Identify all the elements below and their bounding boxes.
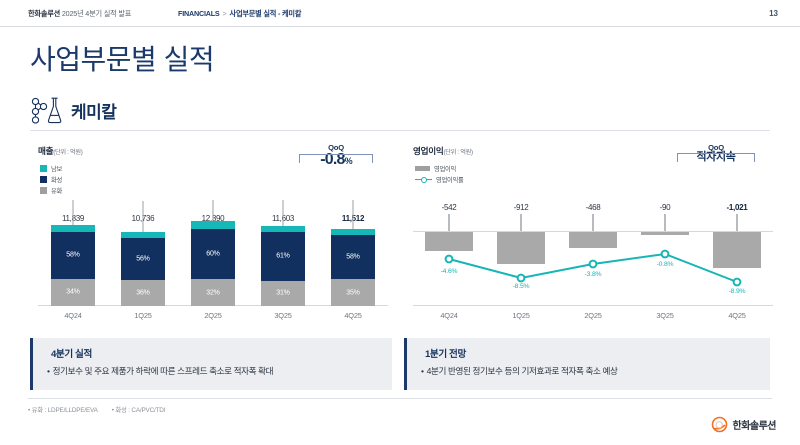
section-divider — [30, 130, 770, 131]
revenue-column-3q25[interactable]: 11,603 61% 31% — [248, 198, 318, 306]
legend-item-nambo[interactable]: 남보 — [40, 163, 62, 174]
revenue-column-1q25[interactable]: 10,736 56% 36% — [108, 198, 178, 306]
op-x-axis-labels: 4Q24 1Q25 2Q25 3Q25 4Q25 — [413, 311, 773, 323]
revenue-column-4q24[interactable]: 11,839 58% 34% — [38, 198, 108, 306]
legend-label-operating-profit: 영업이익 — [434, 164, 456, 173]
revenue-seg-hwaseong-4q24: 58% — [51, 232, 95, 279]
revenue-xlabel-2q25: 2Q25 — [178, 311, 248, 320]
op-plot-area: -542 -4.6% -912 -8.5% -468 -3.8% -90 -0.… — [413, 198, 773, 306]
revenue-plot-area: 11,839 58% 34% 10,736 56% — [38, 198, 388, 306]
legend-swatch-gray — [40, 187, 47, 194]
revenue-seg-label-yuhwa-4q24: 34% — [51, 289, 95, 296]
op-legend: 영업이익 영업이익률 — [415, 163, 463, 185]
revenue-seg-label-hwaseong-4q25: 58% — [331, 253, 375, 260]
revenue-seg-label-hwaseong-1q25: 56% — [121, 255, 165, 262]
revenue-stack-2q25: 60% 32% — [191, 221, 235, 306]
operating-profit-chart: 영업이익(단위 : 억원) 영업이익 영업이익률 QoQ 적자지속 -542 -… — [408, 143, 776, 325]
legend-swatch-bar — [415, 166, 430, 171]
revenue-stack-1q25: 56% 36% — [121, 232, 165, 306]
legend-item-hwaseong[interactable]: 화성 — [40, 174, 62, 185]
revenue-title-text: 매출 — [38, 146, 53, 156]
op-xlabel-4q24: 4Q24 — [413, 311, 485, 320]
revenue-seg-label-yuhwa-1q25: 36% — [121, 289, 165, 296]
legend-swatch-teal — [40, 165, 47, 172]
op-margin-point-2q25 — [590, 261, 597, 268]
revenue-seg-hwaseong-3q25: 61% — [261, 232, 305, 280]
op-title-text: 영업이익 — [413, 146, 443, 156]
op-margin-point-1q25 — [518, 275, 525, 282]
hanwha-logo-icon — [711, 416, 728, 433]
op-xlabel-4q25: 4Q25 — [701, 311, 773, 320]
legend-label-operating-margin: 영업이익률 — [436, 175, 463, 184]
legend-label-hwaseong: 화성 — [51, 175, 62, 184]
revenue-chart: 매출(단위 : 억원) 남보 화성 유화 QoQ -0.8% 11,839 — [33, 143, 391, 325]
revenue-xlabel-4q24: 4Q24 — [38, 311, 108, 320]
op-margin-point-4q25 — [734, 279, 741, 286]
revenue-seg-yuhwa-4q25: 35% — [331, 279, 375, 306]
header-company-name: 한화솔루션 — [28, 9, 60, 18]
revenue-legend: 남보 화성 유화 — [40, 163, 62, 196]
revenue-title-unit: (단위 : 억원) — [53, 149, 82, 156]
revenue-stem-2q25 — [213, 200, 214, 221]
revenue-seg-label-yuhwa-2q25: 32% — [191, 289, 235, 296]
page-title: 사업부문별 실적 — [30, 38, 214, 78]
footer-divider — [28, 398, 772, 399]
revenue-column-2q25[interactable]: 12,390 60% 32% — [178, 198, 248, 306]
op-margin-point-4q24 — [446, 256, 453, 263]
footnote-item-yuhwa: • 유화 : LDPE/LLDPE/EVA — [28, 407, 112, 414]
op-title-unit: (단위 : 억원) — [443, 149, 472, 156]
revenue-stem-3q25 — [283, 200, 284, 226]
revenue-seg-yuhwa-4q24: 34% — [51, 279, 95, 307]
note-q4-results: 4분기 실적 •정기보수 및 주요 제품가 하락에 따른 스프레드 축소로 적자… — [30, 338, 392, 390]
revenue-seg-hwaseong-2q25: 60% — [191, 229, 235, 280]
revenue-seg-label-hwaseong-2q25: 60% — [191, 250, 235, 257]
op-xlabel-2q25: 2Q25 — [557, 311, 629, 320]
legend-label-yuhwa: 유화 — [51, 186, 62, 195]
company-logo: 한화솔루션 — [711, 416, 777, 433]
op-chart-title: 영업이익(단위 : 억원) — [413, 145, 473, 157]
legend-item-operating-profit[interactable]: 영업이익 — [415, 163, 463, 174]
revenue-xlabel-3q25: 3Q25 — [248, 311, 318, 320]
op-margin-line — [413, 198, 773, 306]
section-title: 케미칼 — [71, 98, 116, 123]
breadcrumb-separator: > — [220, 9, 230, 18]
note-right-bullet-text: 4분기 반영된 정기보수 등의 기저효과로 적자폭 축소 예상 — [427, 366, 618, 376]
revenue-stack-4q24: 58% 34% — [51, 225, 95, 306]
revenue-stem-1q25 — [143, 201, 144, 233]
breadcrumb-current: 사업부문별 실적 - 케미칼 — [230, 9, 302, 18]
revenue-x-axis-labels: 4Q24 1Q25 2Q25 3Q25 4Q25 — [38, 311, 388, 323]
footnote-item-hwaseong: • 화성 : CA/PVC/TDI — [112, 407, 180, 414]
revenue-seg-nambo-2q25 — [191, 221, 235, 229]
breadcrumb: FINANCIALS>사업부문별 실적 - 케미칼 — [178, 9, 301, 19]
logo-text: 한화솔루션 — [733, 417, 777, 432]
slide-header: 한화솔루션 2025년 4분기 실적 발표 FINANCIALS>사업부문별 실… — [0, 0, 800, 27]
revenue-column-4q25[interactable]: 11,512 58% 35% — [318, 198, 388, 306]
revenue-seg-label-hwaseong-3q25: 61% — [261, 253, 305, 260]
revenue-seg-yuhwa-2q25: 32% — [191, 279, 235, 306]
revenue-qoq-bracket — [299, 154, 373, 163]
op-margin-point-3q25 — [662, 251, 669, 258]
legend-item-yuhwa[interactable]: 유화 — [40, 185, 62, 196]
revenue-stack-4q25: 58% 35% — [331, 229, 375, 306]
flask-icon — [30, 95, 64, 125]
revenue-seg-hwaseong-4q25: 58% — [331, 235, 375, 279]
page-number: 13 — [769, 9, 778, 18]
legend-swatch-navy — [40, 176, 47, 183]
note-left-title: 4분기 실적 — [51, 346, 92, 360]
revenue-seg-hwaseong-1q25: 56% — [121, 238, 165, 279]
legend-item-operating-margin[interactable]: 영업이익률 — [415, 174, 463, 185]
op-qoq-bracket — [677, 153, 755, 162]
op-xlabel-3q25: 3Q25 — [629, 311, 701, 320]
header-company-line: 한화솔루션 2025년 4분기 실적 발표 — [28, 9, 131, 19]
footnote: • 유화 : LDPE/LLDPE/EVA• 화성 : CA/PVC/TDI — [28, 405, 179, 414]
note-right-title: 1분기 전망 — [425, 346, 466, 360]
revenue-qoq-callout: QoQ -0.8% — [283, 143, 389, 169]
note-left-bullet: •정기보수 및 주요 제품가 하락에 따른 스프레드 축소로 적자폭 확대 — [47, 365, 384, 377]
revenue-stem-4q25 — [353, 200, 354, 229]
op-xlabel-1q25: 1Q25 — [485, 311, 557, 320]
revenue-seg-yuhwa-1q25: 36% — [121, 280, 165, 307]
legend-label-nambo: 남보 — [51, 164, 62, 173]
note-right-bullet: •4분기 반영된 정기보수 등의 기저효과로 적자폭 축소 예상 — [421, 365, 762, 377]
op-qoq-callout: QoQ 적자지속 — [661, 143, 771, 164]
revenue-xlabel-4q25: 4Q25 — [318, 311, 388, 320]
section-header: 케미칼 — [30, 95, 116, 125]
revenue-seg-label-yuhwa-4q25: 35% — [331, 289, 375, 296]
revenue-stem-4q24 — [73, 200, 74, 225]
revenue-seg-label-yuhwa-3q25: 31% — [261, 290, 305, 297]
legend-swatch-line — [415, 176, 432, 183]
note-left-bullet-text: 정기보수 및 주요 제품가 하락에 따른 스프레드 축소로 적자폭 확대 — [53, 366, 274, 376]
revenue-stack-3q25: 61% 31% — [261, 226, 305, 306]
note-q1-outlook: 1분기 전망 •4분기 반영된 정기보수 등의 기저효과로 적자폭 축소 예상 — [404, 338, 770, 390]
revenue-seg-yuhwa-3q25: 31% — [261, 281, 305, 307]
header-company-subtitle: 2025년 4분기 실적 발표 — [60, 9, 131, 18]
revenue-seg-label-hwaseong-4q24: 58% — [51, 252, 95, 259]
revenue-chart-title: 매출(단위 : 억원) — [38, 145, 83, 157]
revenue-xlabel-1q25: 1Q25 — [108, 311, 178, 320]
breadcrumb-root[interactable]: FINANCIALS — [178, 9, 220, 18]
